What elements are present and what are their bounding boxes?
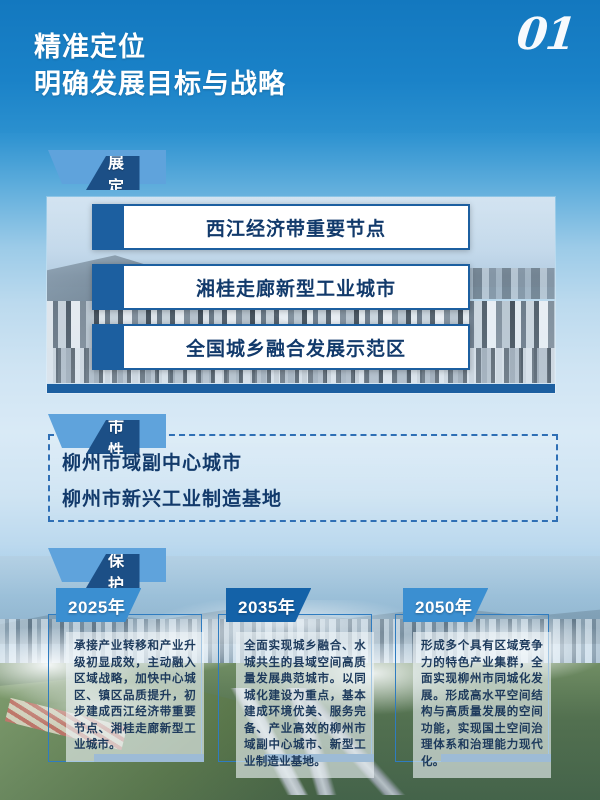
positioning-item-2[interactable]: 湘桂走廊新型工业城市 [92, 264, 470, 310]
pill-body: 西江经济带重要节点 [124, 204, 470, 250]
card-year-label: 2050年 [415, 593, 472, 618]
card-body: 全面实现城乡融合、水城共生的县域空间高质量发展典范城市。以同城化建设为重点，基本… [236, 632, 374, 778]
page-title: 精准定位 明确发展目标与战略 [34, 32, 286, 100]
section-number-badge: 01 [514, 9, 577, 60]
slide-page: 精准定位 明确发展目标与战略 01 发展定位 西江经济带重要节点 湘桂走廊新型工… [0, 0, 600, 800]
positioning-item-label-2: 湘桂走廊新型工业城市 [196, 274, 396, 301]
title-line-1: 精准定位 [34, 32, 286, 63]
page-header: 精准定位 明确发展目标与战略 01 [0, 0, 600, 133]
card-year-label: 2035年 [238, 593, 295, 618]
positioning-item-3[interactable]: 全国城乡融合发展示范区 [92, 324, 470, 370]
card-body-text: 全面实现城乡融合、水城共生的县域空间高质量发展典范城市。以同城化建设为重点，基本… [244, 638, 366, 770]
pill-tab-accent [92, 204, 124, 250]
pill-body: 全国城乡融合发展示范区 [124, 324, 470, 370]
nature-line-2: 柳州市新兴工业制造基地 [62, 484, 282, 511]
card-body: 承接产业转移和产业升级初显成效，主动融入区域战略，加快中心城区、镇区品质提升，初… [66, 632, 204, 762]
photo-bottom-accent-bar [47, 384, 555, 393]
positioning-item-1[interactable]: 西江经济带重要节点 [92, 204, 470, 250]
positioning-item-label-1: 西江经济带重要节点 [206, 214, 386, 241]
title-line-2: 明确发展目标与战略 [34, 69, 286, 100]
card-year-label: 2025年 [68, 593, 125, 618]
pill-tab-accent [92, 324, 124, 370]
card-body-text: 承接产业转移和产业升级初显成效，主动融入区域战略，加快中心城区、镇区品质提升，初… [74, 638, 196, 754]
positioning-item-label-3: 全国城乡融合发展示范区 [186, 334, 406, 361]
pill-body: 湘桂走廊新型工业城市 [124, 264, 470, 310]
card-body: 形成多个具有区域竞争力的特色产业集群，全面实现柳州市同城化发展。形成高水平空间结… [413, 632, 551, 778]
nature-line-1: 柳州市域副中心城市 [62, 448, 242, 475]
pill-tab-accent [92, 264, 124, 310]
card-body-text: 形成多个具有区域竞争力的特色产业集群，全面实现柳州市同城化发展。形成高水平空间结… [421, 638, 543, 770]
